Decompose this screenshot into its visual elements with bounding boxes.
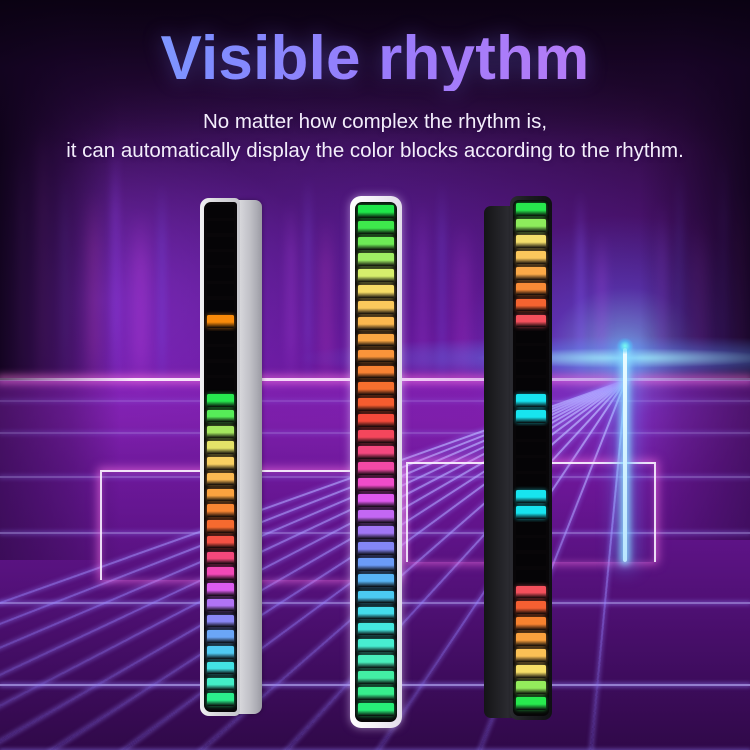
led-segment-on	[358, 350, 394, 363]
led-segment-on	[516, 219, 546, 232]
led-segment-on	[516, 601, 546, 614]
led-segment-on	[358, 269, 394, 282]
led-segment-on	[516, 681, 546, 694]
led-segment-off	[516, 570, 546, 583]
led-segment-off	[516, 522, 546, 535]
led-segment-off	[516, 554, 546, 567]
led-segment-on	[358, 285, 394, 298]
led-segment-on	[358, 494, 394, 507]
led-segment-on	[516, 315, 546, 328]
led-segment-on	[358, 703, 394, 716]
led-segment-off	[207, 363, 234, 376]
subtitle-line-1: No matter how complex the rhythm is,	[0, 107, 750, 136]
neon-pillar-glow	[617, 338, 633, 354]
led-segment-on	[516, 665, 546, 678]
led-segment-off	[516, 346, 546, 359]
grid-line-vertical	[590, 380, 627, 750]
led-segment-on	[358, 526, 394, 539]
led-segment-off	[516, 442, 546, 455]
led-segment-on	[358, 237, 394, 250]
led-segment-on	[358, 591, 394, 604]
led-segment-on	[207, 441, 234, 454]
led-segment-on	[516, 394, 546, 407]
led-display-white[interactable]	[355, 202, 397, 722]
led-segment-on	[358, 334, 394, 347]
led-segment-on	[358, 623, 394, 636]
led-segment-on	[358, 221, 394, 234]
led-segment-off	[516, 474, 546, 487]
led-segment-on	[516, 586, 546, 599]
led-segment-on	[358, 253, 394, 266]
header-text-block: Visible rhythm No matter how complex the…	[0, 26, 750, 165]
led-segment-off	[207, 252, 234, 265]
led-segment-off	[516, 331, 546, 344]
led-segment-off	[516, 538, 546, 551]
led-segment-on	[358, 510, 394, 523]
led-segment-on	[516, 267, 546, 280]
led-segment-off	[516, 362, 546, 375]
led-segment-off	[516, 458, 546, 471]
led-segment-on	[207, 520, 234, 533]
led-segment-on	[358, 366, 394, 379]
led-segment-on	[207, 504, 234, 517]
led-segment-off	[207, 331, 234, 344]
led-segment-on	[516, 251, 546, 264]
led-segment-on	[207, 646, 234, 659]
led-segment-on	[207, 615, 234, 628]
led-segment-off	[207, 237, 234, 250]
led-segment-on	[358, 478, 394, 491]
led-segment-on	[358, 655, 394, 668]
led-segment-off	[207, 300, 234, 313]
led-segment-on	[207, 426, 234, 439]
led-segment-on	[516, 633, 546, 646]
led-segment-on	[207, 473, 234, 486]
led-segment-on	[207, 489, 234, 502]
led-segment-off	[516, 378, 546, 391]
led-segment-on	[358, 542, 394, 555]
led-segment-on	[358, 301, 394, 314]
led-segment-on	[207, 567, 234, 580]
led-segment-on	[358, 382, 394, 395]
led-segment-on	[207, 583, 234, 596]
led-segment-on	[516, 283, 546, 296]
led-segment-on	[207, 552, 234, 565]
led-segment-on	[358, 639, 394, 652]
led-bar-silver[interactable]	[200, 198, 266, 718]
led-segment-on	[516, 299, 546, 312]
led-segment-on	[516, 490, 546, 503]
led-bar-white[interactable]	[350, 196, 402, 728]
led-segment-on	[358, 446, 394, 459]
led-segment-on	[207, 315, 234, 328]
led-segment-on	[207, 394, 234, 407]
led-segment-on	[358, 671, 394, 684]
led-segment-on	[207, 410, 234, 423]
neon-pillar	[623, 348, 627, 562]
product-banner: Visible rhythm No matter how complex the…	[0, 0, 750, 750]
led-segment-off	[207, 347, 234, 360]
page-title: Visible rhythm	[0, 26, 750, 91]
led-segment-on	[358, 574, 394, 587]
led-bar-black[interactable]	[482, 196, 554, 724]
led-segment-on	[358, 462, 394, 475]
led-segment-on	[516, 410, 546, 423]
led-segment-on	[358, 607, 394, 620]
led-display-black[interactable]	[513, 200, 549, 716]
led-segment-on	[358, 558, 394, 571]
led-segment-off	[207, 268, 234, 281]
led-display-silver[interactable]	[204, 202, 237, 712]
led-segment-on	[516, 203, 546, 216]
led-segment-on	[358, 205, 394, 218]
led-segment-on	[516, 235, 546, 248]
led-segment-on	[358, 687, 394, 700]
led-segment-on	[516, 506, 546, 519]
led-segment-on	[207, 662, 234, 675]
led-segment-on	[207, 457, 234, 470]
led-segment-on	[207, 678, 234, 691]
led-segment-on	[516, 617, 546, 630]
subtitle-line-2: it can automatically display the color b…	[0, 136, 750, 165]
led-segment-off	[516, 426, 546, 439]
led-segment-on	[358, 398, 394, 411]
led-segment-on	[207, 599, 234, 612]
led-segment-off	[207, 205, 234, 218]
led-segment-off	[207, 221, 234, 234]
led-segment-on	[358, 317, 394, 330]
led-segment-on	[358, 430, 394, 443]
led-segment-on	[207, 630, 234, 643]
led-segment-off	[207, 284, 234, 297]
led-segment-on	[207, 536, 234, 549]
led-segment-off	[207, 378, 234, 391]
led-segment-on	[516, 697, 546, 710]
led-segment-on	[516, 649, 546, 662]
led-segment-on	[207, 693, 234, 706]
led-segment-on	[358, 414, 394, 427]
